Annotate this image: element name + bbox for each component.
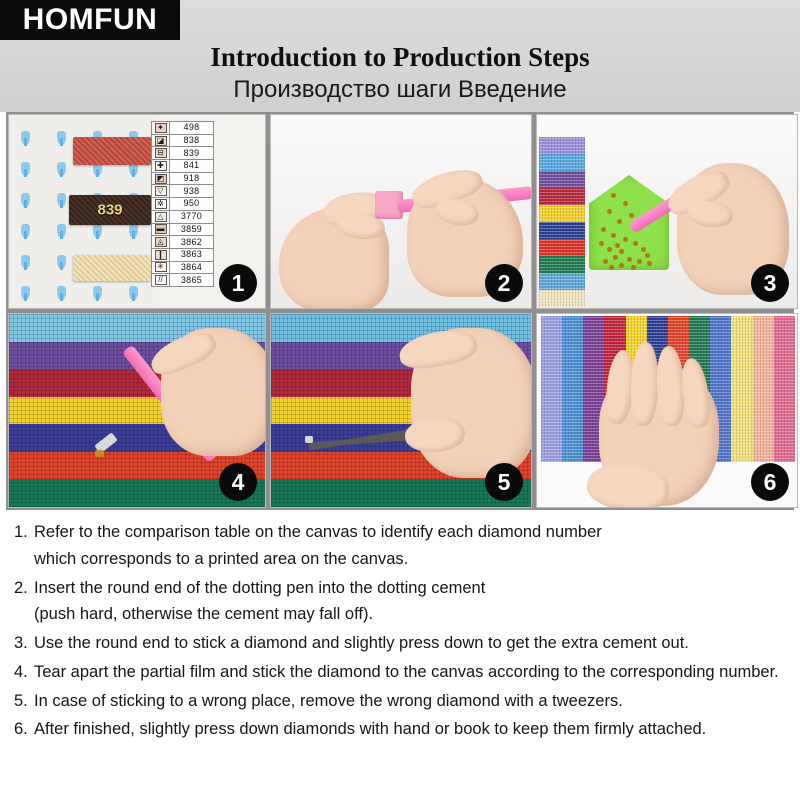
canvas-marker-icon <box>21 162 30 176</box>
dmc-chart-row: ◬3862 <box>152 236 214 249</box>
loose-diamond <box>609 265 614 270</box>
dmc-symbol-swatch: ✦ <box>155 123 167 133</box>
canvas-stripe <box>539 171 585 188</box>
dmc-chart-row: ▬3859 <box>152 223 214 236</box>
step-number: 5. <box>14 691 34 712</box>
loose-diamond <box>637 259 642 264</box>
diamond-bag-red <box>73 137 151 165</box>
canvas-marker-icon <box>21 193 30 207</box>
canvas-marker-icon <box>21 224 30 238</box>
canvas-stripe <box>539 205 585 222</box>
dmc-symbol-cell: ✲ <box>152 198 170 211</box>
dmc-symbol-cell: ✳ <box>152 261 170 274</box>
canvas-stripe <box>539 188 585 205</box>
dmc-code-cell: 3864 <box>170 261 214 274</box>
step-badge-2: 2 <box>485 264 523 302</box>
canvas-marker-icon <box>21 286 30 300</box>
dmc-chart-row: ❙3863 <box>152 248 214 261</box>
dmc-symbol-swatch: ✚ <box>155 161 167 171</box>
canvas-stripe <box>539 222 585 239</box>
dmc-chart-row: ✦498 <box>152 122 214 135</box>
dmc-symbol-cell: ⊟ <box>152 147 170 160</box>
step-photo-3: 3 <box>536 114 798 309</box>
canvas-marker-icon <box>57 286 66 300</box>
step-text: Tear apart the partial film and stick th… <box>34 662 786 683</box>
instruction-step: 2.Insert the round end of the dotting pe… <box>14 578 786 626</box>
canvas-stripe <box>562 316 583 462</box>
canvas-stripe <box>539 239 585 256</box>
dmc-code-cell: 3770 <box>170 210 214 223</box>
dmc-symbol-cell: ◪ <box>152 134 170 147</box>
dmc-symbol-swatch: △ <box>155 212 167 222</box>
step-number: 4. <box>14 662 34 683</box>
diamond-bag-brown: 839 <box>69 195 151 225</box>
dmc-symbol-cell: △ <box>152 210 170 223</box>
instruction-step: 3.Use the round end to stick a diamond a… <box>14 633 786 654</box>
instruction-list: 1.Refer to the comparison table on the c… <box>0 516 800 800</box>
page-subtitle-russian: Производство шаги Введение <box>0 76 800 104</box>
step-text: In case of sticking to a wrong place, re… <box>34 691 786 712</box>
step-text: After finished, slightly press down diam… <box>34 719 786 740</box>
dmc-code-cell: 839 <box>170 147 214 160</box>
loose-diamond <box>645 253 650 258</box>
step-number: 1. <box>14 522 34 543</box>
dmc-code-cell: 838 <box>170 134 214 147</box>
dmc-symbol-swatch: ❙ <box>155 250 167 260</box>
loose-diamond <box>641 247 646 252</box>
dmc-symbol-swatch: // <box>155 275 167 285</box>
loose-diamond <box>611 193 616 198</box>
dmc-code-cell: 918 <box>170 172 214 185</box>
dmc-code-cell: 498 <box>170 122 214 135</box>
dmc-chart-row: ✲950 <box>152 198 214 211</box>
instruction-step: 4.Tear apart the partial film and stick … <box>14 662 786 683</box>
canvas-stripe <box>539 273 585 290</box>
step-text: Insert the round end of the dotting pen … <box>34 578 786 599</box>
loose-diamond <box>619 249 624 254</box>
step-photo-1: 839 ✦498◪838⊟839✚841◩918▽938✲950△3770▬38… <box>8 114 266 309</box>
canvas-stripe <box>539 154 585 171</box>
canvas-marker-icon <box>93 224 102 238</box>
diamond-bag-label: 839 <box>69 202 151 219</box>
canvas-stripe <box>774 316 795 462</box>
dmc-symbol-cell: ◩ <box>152 172 170 185</box>
dmc-code-cell: 841 <box>170 160 214 173</box>
canvas-marker-icon <box>57 193 66 207</box>
loose-diamond <box>623 237 628 242</box>
dmc-symbol-cell: ▽ <box>152 185 170 198</box>
dmc-code-cell: 3865 <box>170 274 214 287</box>
canvas-marker-icon <box>57 131 66 145</box>
dmc-symbol-swatch: ▽ <box>155 186 167 196</box>
dmc-symbol-swatch: ⊟ <box>155 148 167 158</box>
brand-logo: HOMFUN <box>0 0 180 40</box>
dmc-symbol-swatch: ◪ <box>155 136 167 146</box>
diamond-bag-cream <box>73 255 151 281</box>
loose-diamond <box>599 241 604 246</box>
dmc-code-cell: 950 <box>170 198 214 211</box>
dmc-symbol-swatch: ◩ <box>155 174 167 184</box>
dmc-symbol-cell: ◬ <box>152 236 170 249</box>
diamond-on-pen-tip <box>95 450 104 457</box>
dmc-symbol-cell: ✚ <box>152 160 170 173</box>
step-badge-1: 1 <box>219 264 257 302</box>
dmc-code-cell: 3859 <box>170 223 214 236</box>
canvas-stripe <box>539 256 585 273</box>
canvas-stripe <box>541 316 562 462</box>
dmc-chart-row: ◪838 <box>152 134 214 147</box>
loose-diamond <box>627 257 632 262</box>
dmc-chart-row: △3770 <box>152 210 214 223</box>
dmc-code-cell: 3863 <box>170 248 214 261</box>
step-photo-2: 2 <box>270 114 532 309</box>
dmc-chart-row: ✳3864 <box>152 261 214 274</box>
loose-diamond <box>617 219 622 224</box>
step-badge-4: 4 <box>219 463 257 501</box>
step-badge-5: 5 <box>485 463 523 501</box>
loose-diamond <box>647 261 652 266</box>
loose-diamond <box>607 247 612 252</box>
canvas-stripe <box>539 137 585 154</box>
loose-diamond <box>613 255 618 260</box>
loose-diamond <box>601 227 606 232</box>
instruction-step: 1.Refer to the comparison table on the c… <box>14 522 786 570</box>
tray-diamonds <box>589 175 669 270</box>
dmc-symbol-swatch: ◬ <box>155 237 167 247</box>
canvas-marker-icon <box>57 162 66 176</box>
step-photo-4: 4 <box>8 313 266 508</box>
dmc-symbol-cell: ▬ <box>152 223 170 236</box>
dmc-symbol-cell: // <box>152 274 170 287</box>
dmc-chart-row: ◩918 <box>152 172 214 185</box>
loose-diamond <box>611 233 616 238</box>
dmc-code-cell: 3862 <box>170 236 214 249</box>
dmc-chart-row: ⊟839 <box>152 147 214 160</box>
instruction-step: 6.After finished, slightly press down di… <box>14 719 786 740</box>
dmc-symbol-cell: ❙ <box>152 248 170 261</box>
dmc-symbol-swatch: ✳ <box>155 262 167 272</box>
step-text: Use the round end to stick a diamond and… <box>34 633 786 654</box>
loose-diamond <box>631 265 636 270</box>
loose-diamond <box>623 201 628 206</box>
canvas-marker-icon <box>93 286 102 300</box>
canvas-marker-icon <box>21 255 30 269</box>
canvas-marker-icon <box>21 131 30 145</box>
canvas-stripe <box>539 290 585 307</box>
loose-diamond <box>633 241 638 246</box>
loose-diamond <box>603 259 608 264</box>
step-text-continued: which corresponds to a printed area on t… <box>34 549 786 570</box>
canvas-stripe <box>753 316 774 462</box>
dmc-code-cell: 938 <box>170 185 214 198</box>
page-title: Introduction to Production Steps <box>0 42 800 73</box>
page-header: HOMFUN Introduction to Production Steps … <box>0 0 800 112</box>
step-number: 3. <box>14 633 34 654</box>
instruction-step: 5.In case of sticking to a wrong place, … <box>14 691 786 712</box>
loose-diamond <box>619 263 624 268</box>
dmc-chart-row: //3865 <box>152 274 214 287</box>
step-photo-5: 5 <box>270 313 532 508</box>
step-badge-3: 3 <box>751 264 789 302</box>
loose-diamond <box>629 213 634 218</box>
diamond-held-by-tweezers <box>305 436 313 443</box>
step-text: Refer to the comparison table on the can… <box>34 522 786 543</box>
loose-diamond <box>607 209 612 214</box>
step-text-continued: (push hard, otherwise the cement may fal… <box>34 604 786 625</box>
dmc-chart-row: ▽938 <box>152 185 214 198</box>
canvas-marker-icon <box>57 224 66 238</box>
steps-photo-grid: 839 ✦498◪838⊟839✚841◩918▽938✲950△3770▬38… <box>6 112 794 510</box>
canvas-marker-icon <box>129 286 138 300</box>
dmc-chart-row: ✚841 <box>152 160 214 173</box>
step-number: 6. <box>14 719 34 740</box>
step-badge-6: 6 <box>751 463 789 501</box>
dmc-symbol-swatch: ✲ <box>155 199 167 209</box>
canvas-marker-icon <box>57 255 66 269</box>
dmc-color-chart: ✦498◪838⊟839✚841◩918▽938✲950△3770▬3859◬3… <box>151 121 214 287</box>
loose-diamond <box>615 243 620 248</box>
step-photo-6: 6 <box>536 313 798 508</box>
panel3-canvas-strip <box>539 137 585 307</box>
canvas-stripe <box>731 316 752 462</box>
dmc-symbol-cell: ✦ <box>152 122 170 135</box>
dmc-symbol-swatch: ▬ <box>155 224 167 234</box>
step-number: 2. <box>14 578 34 599</box>
canvas-marker-icon <box>129 224 138 238</box>
